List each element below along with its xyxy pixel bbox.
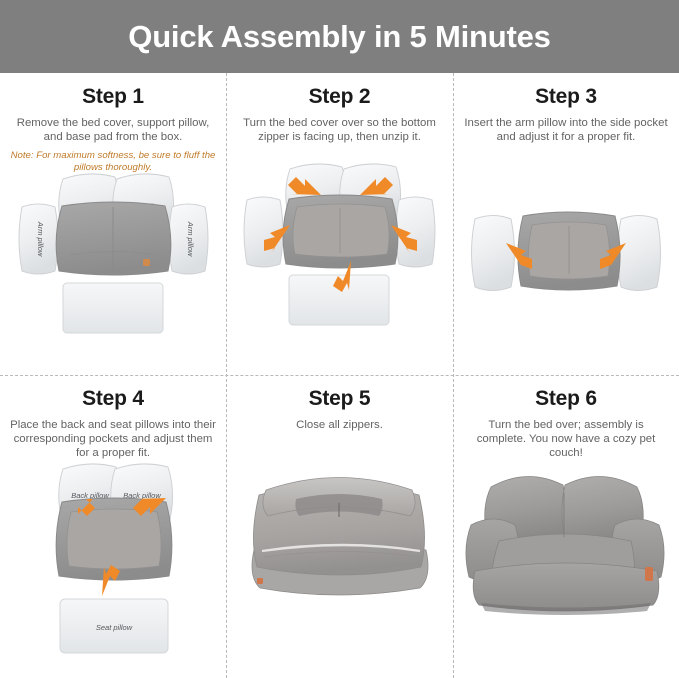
arm-pillow-left: Arm pillow (19, 204, 58, 274)
steps-grid: Step 1 Remove the bed cover, support pil… (0, 73, 679, 678)
step-cell-4: Step 4 Place the back and seat pillows i… (0, 375, 226, 678)
svg-text:Seat pillow: Seat pillow (96, 623, 133, 632)
step-3-illustration (453, 73, 679, 375)
arrow-up-icon (102, 565, 120, 596)
bed-cover-unzipped (283, 195, 398, 268)
step-1-illustration: Back pillow Back pillow Arm pillow Arm p… (0, 73, 226, 375)
assembly-infographic: Quick Assembly in 5 Minutes Step 1 Remov… (0, 0, 679, 678)
step-4-illustration: Back pillow Back pillow Seat pillow (0, 375, 226, 678)
step-5-illustration (226, 375, 453, 678)
step-cell-2: Step 2 Turn the bed cover over so the bo… (226, 73, 453, 375)
seat-pillow: Seat pillow (60, 599, 168, 653)
arm-pillow-left (472, 216, 515, 291)
svg-text:Arm pillow: Arm pillow (186, 221, 195, 257)
header-banner: Quick Assembly in 5 Minutes (0, 0, 679, 73)
step-cell-1: Step 1 Remove the bed cover, support pil… (0, 73, 226, 375)
page-title: Quick Assembly in 5 Minutes (128, 19, 550, 55)
base-pad (63, 283, 163, 333)
step-cell-6: Step 6 Turn the bed over; assembly is co… (453, 375, 679, 678)
bed-cover (56, 202, 171, 275)
bed-cover-unzipped (518, 212, 620, 290)
step-2-illustration (226, 73, 453, 375)
arm-pillow-right: Arm pillow (169, 204, 208, 274)
step-6-illustration (453, 375, 679, 678)
assembled-bed-upside-down (252, 478, 428, 596)
svg-text:Arm pillow: Arm pillow (36, 221, 45, 257)
finished-pet-couch (466, 476, 664, 615)
step-cell-3: Step 3 Insert the arm pillow into the si… (453, 73, 679, 375)
step-cell-5: Step 5 Close all zippers. (226, 375, 453, 678)
arm-pillow-right (618, 216, 661, 291)
